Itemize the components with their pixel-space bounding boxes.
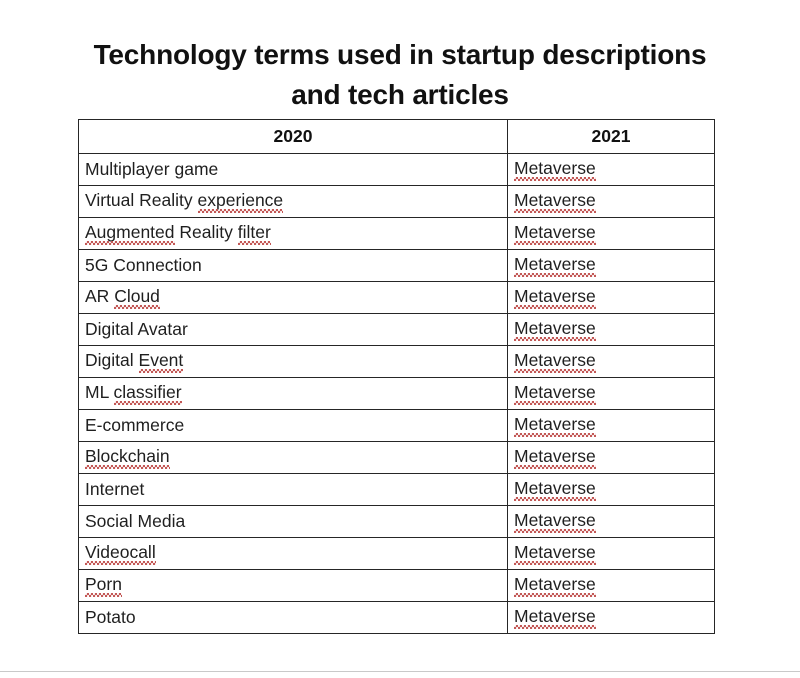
cell-term-2021: Metaverse	[508, 538, 715, 570]
table-body: Multiplayer gameMetaverseVirtual Reality…	[79, 154, 715, 634]
table-row: InternetMetaverse	[79, 474, 715, 506]
spellcheck-underline: Metaverse	[514, 607, 596, 628]
table-row: Augmented Reality filterMetaverse	[79, 218, 715, 250]
table-row: Social MediaMetaverse	[79, 506, 715, 538]
spellcheck-underline: Metaverse	[514, 287, 596, 308]
spellcheck-underline: Metaverse	[514, 511, 596, 532]
spellcheck-underline: Augmented	[85, 223, 175, 244]
table-row: AR CloudMetaverse	[79, 282, 715, 314]
page-title-line-2: and tech articles	[60, 75, 740, 115]
cell-term-2021: Metaverse	[508, 474, 715, 506]
table-row: E-commerceMetaverse	[79, 410, 715, 442]
cell-term-2021: Metaverse	[508, 346, 715, 378]
column-header-2020: 2020	[79, 120, 508, 154]
cell-term-2021: Metaverse	[508, 570, 715, 602]
spellcheck-underline: Metaverse	[514, 479, 596, 500]
cell-term-2021: Metaverse	[508, 378, 715, 410]
spellcheck-underline: Metaverse	[514, 447, 596, 468]
cell-term-2020: Videocall	[79, 538, 508, 570]
cell-term-2020: Porn	[79, 570, 508, 602]
spellcheck-underline: filter	[238, 223, 271, 244]
spellcheck-underline: Metaverse	[514, 255, 596, 276]
spellcheck-underline: classifier	[114, 383, 182, 404]
table-row: PornMetaverse	[79, 570, 715, 602]
cell-term-2021: Metaverse	[508, 442, 715, 474]
cell-term-2020: 5G Connection	[79, 250, 508, 282]
table-row: ML classifierMetaverse	[79, 378, 715, 410]
table-row: 5G ConnectionMetaverse	[79, 250, 715, 282]
cell-term-2020: Virtual Reality experience	[79, 186, 508, 218]
table-row: Multiplayer gameMetaverse	[79, 154, 715, 186]
cell-term-2021: Metaverse	[508, 282, 715, 314]
spellcheck-underline: experience	[198, 191, 284, 212]
spellcheck-underline: Event	[139, 351, 184, 372]
spellcheck-underline: Metaverse	[514, 351, 596, 372]
table-header-row: 2020 2021	[79, 120, 715, 154]
cell-term-2020: Digital Avatar	[79, 314, 508, 346]
spellcheck-underline: Metaverse	[514, 543, 596, 564]
cell-term-2021: Metaverse	[508, 154, 715, 186]
cell-term-2021: Metaverse	[508, 186, 715, 218]
page-title-line-1: Technology terms used in startup descrip…	[60, 35, 740, 75]
cell-term-2020: E-commerce	[79, 410, 508, 442]
column-header-2021: 2021	[508, 120, 715, 154]
spellcheck-underline: Blockchain	[85, 447, 170, 468]
table-row: Digital AvatarMetaverse	[79, 314, 715, 346]
cell-term-2020: AR Cloud	[79, 282, 508, 314]
table-row: BlockchainMetaverse	[79, 442, 715, 474]
cell-term-2021: Metaverse	[508, 218, 715, 250]
technology-terms-table: 2020 2021 Multiplayer gameMetaverseVirtu…	[78, 119, 715, 634]
spellcheck-underline: Videocall	[85, 543, 156, 564]
cell-term-2020: Multiplayer game	[79, 154, 508, 186]
spellcheck-underline: Porn	[85, 575, 122, 596]
table-row: PotatoMetaverse	[79, 602, 715, 634]
cell-term-2020: Digital Event	[79, 346, 508, 378]
spellcheck-underline: Metaverse	[514, 415, 596, 436]
table-row: Virtual Reality experienceMetaverse	[79, 186, 715, 218]
cell-term-2020: Blockchain	[79, 442, 508, 474]
page-title: Technology terms used in startup descrip…	[60, 35, 740, 115]
spellcheck-underline: Metaverse	[514, 223, 596, 244]
cell-term-2020: Internet	[79, 474, 508, 506]
cell-term-2021: Metaverse	[508, 314, 715, 346]
table-row: Digital EventMetaverse	[79, 346, 715, 378]
cell-term-2020: Social Media	[79, 506, 508, 538]
cell-term-2021: Metaverse	[508, 410, 715, 442]
spellcheck-underline: Metaverse	[514, 383, 596, 404]
spellcheck-underline: Metaverse	[514, 319, 596, 340]
spellcheck-underline: Metaverse	[514, 191, 596, 212]
table-row: VideocallMetaverse	[79, 538, 715, 570]
bottom-divider	[0, 671, 800, 672]
cell-term-2021: Metaverse	[508, 506, 715, 538]
cell-term-2020: ML classifier	[79, 378, 508, 410]
cell-term-2020: Potato	[79, 602, 508, 634]
spellcheck-underline: Metaverse	[514, 575, 596, 596]
cell-term-2020: Augmented Reality filter	[79, 218, 508, 250]
cell-term-2021: Metaverse	[508, 250, 715, 282]
spellcheck-underline: Cloud	[114, 287, 160, 308]
spellcheck-underline: Metaverse	[514, 159, 596, 180]
cell-term-2021: Metaverse	[508, 602, 715, 634]
